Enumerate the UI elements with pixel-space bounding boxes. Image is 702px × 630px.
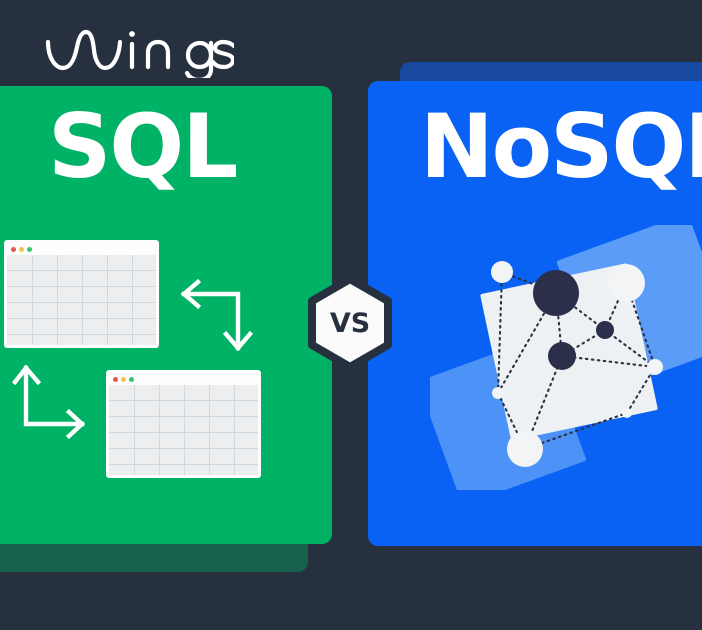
window-close-dot-icon xyxy=(11,247,16,252)
node-white-tiny-right xyxy=(647,359,663,375)
window-maximize-dot-icon xyxy=(27,247,32,252)
table-grid xyxy=(109,385,258,475)
node-dark-large xyxy=(533,270,579,316)
node-white-large-bottom xyxy=(507,431,543,467)
window-close-dot-icon xyxy=(113,377,118,382)
spreadsheet-table-bottom xyxy=(106,370,261,478)
node-white-large-top xyxy=(607,264,645,302)
window-titlebar xyxy=(7,243,156,255)
node-white-tiny-left xyxy=(492,387,504,399)
nosql-title: NoSQL xyxy=(420,103,702,191)
vs-label: VS xyxy=(303,276,397,370)
node-white-small-topleft xyxy=(491,261,513,283)
nosql-graph-illustration xyxy=(430,225,702,490)
wings-wordmark-icon xyxy=(44,22,234,78)
node-dark-small xyxy=(596,321,614,339)
node-dark-medium xyxy=(548,342,576,370)
window-titlebar xyxy=(109,373,258,385)
infographic-canvas: SQL NoSQL xyxy=(0,0,702,630)
table-grid xyxy=(7,255,156,345)
spreadsheet-table-top xyxy=(4,240,159,348)
sql-title: SQL xyxy=(48,103,236,191)
window-minimize-dot-icon xyxy=(121,377,126,382)
vs-badge: VS xyxy=(303,276,397,370)
window-maximize-dot-icon xyxy=(129,377,134,382)
node-white-tiny-bottom xyxy=(622,408,632,418)
window-minimize-dot-icon xyxy=(19,247,24,252)
wings-logo-dot-icon xyxy=(129,31,135,37)
wings-logo xyxy=(44,22,234,78)
arrow-left-down-icon xyxy=(176,276,256,361)
arrow-up-right-icon xyxy=(12,362,92,447)
